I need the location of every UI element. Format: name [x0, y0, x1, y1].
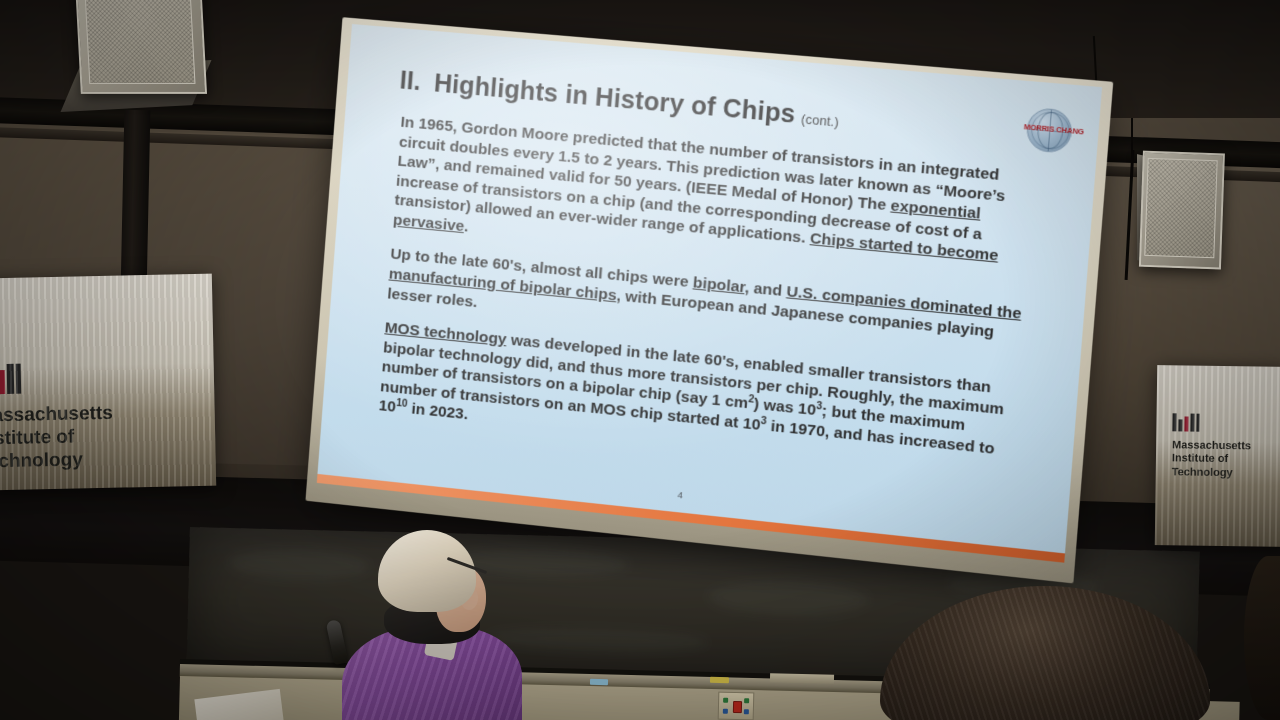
mit-banner-left: Massachusetts Institute of Technology — [0, 274, 216, 491]
lecture-hall-photo: II.Highlights in History of Chips(cont.)… — [0, 0, 1280, 720]
morris-chang-logo: MORRIS CHANG — [1022, 106, 1075, 158]
mit-logo-icon — [0, 364, 21, 395]
control-button-blue[interactable] — [723, 709, 728, 714]
slide-title-continuation: (cont.) — [801, 112, 840, 130]
control-button-green[interactable] — [744, 698, 749, 703]
mit-banner-right: Massachusetts Institute of Technology — [1155, 365, 1280, 547]
av-control-panel[interactable] — [718, 692, 755, 720]
slide-title-numeral: II. — [399, 66, 422, 96]
speaker-grille — [1145, 158, 1217, 259]
speaker-grille — [84, 0, 196, 84]
presenter-hair — [378, 530, 476, 612]
chalk-stick-blue — [590, 679, 608, 685]
presenter — [330, 530, 540, 720]
ceiling-speaker-right — [1139, 151, 1221, 266]
control-button-red[interactable] — [733, 701, 742, 713]
slide-body: In 1965, Gordon Moore predicted that the… — [377, 113, 1040, 497]
ceiling-speaker-left — [75, 0, 203, 90]
control-button-green[interactable] — [723, 698, 728, 703]
mit-banner-right-text: Massachusetts Institute of Technology — [1172, 439, 1251, 480]
banner-line-3: Technology — [0, 448, 114, 474]
mit-logo-icon — [1172, 413, 1199, 431]
slide-page-number: 4 — [677, 490, 683, 501]
mit-banner-left-text: Massachusetts Institute of Technology — [0, 402, 114, 474]
projection-screen: II.Highlights in History of Chips(cont.)… — [316, 24, 1102, 572]
chalk-stick-yellow — [710, 677, 729, 683]
chalkboard-eraser — [770, 673, 834, 684]
banner-line-2: Institute of — [0, 425, 114, 451]
control-button-blue[interactable] — [744, 709, 749, 714]
banner-line-1: Massachusetts — [0, 402, 113, 428]
banner-line-3: Technology — [1172, 466, 1251, 481]
presentation-slide: II.Highlights in History of Chips(cont.)… — [317, 24, 1102, 553]
banner-line-1: Massachusetts — [1172, 439, 1251, 454]
banner-line-2: Institute of — [1172, 453, 1251, 468]
